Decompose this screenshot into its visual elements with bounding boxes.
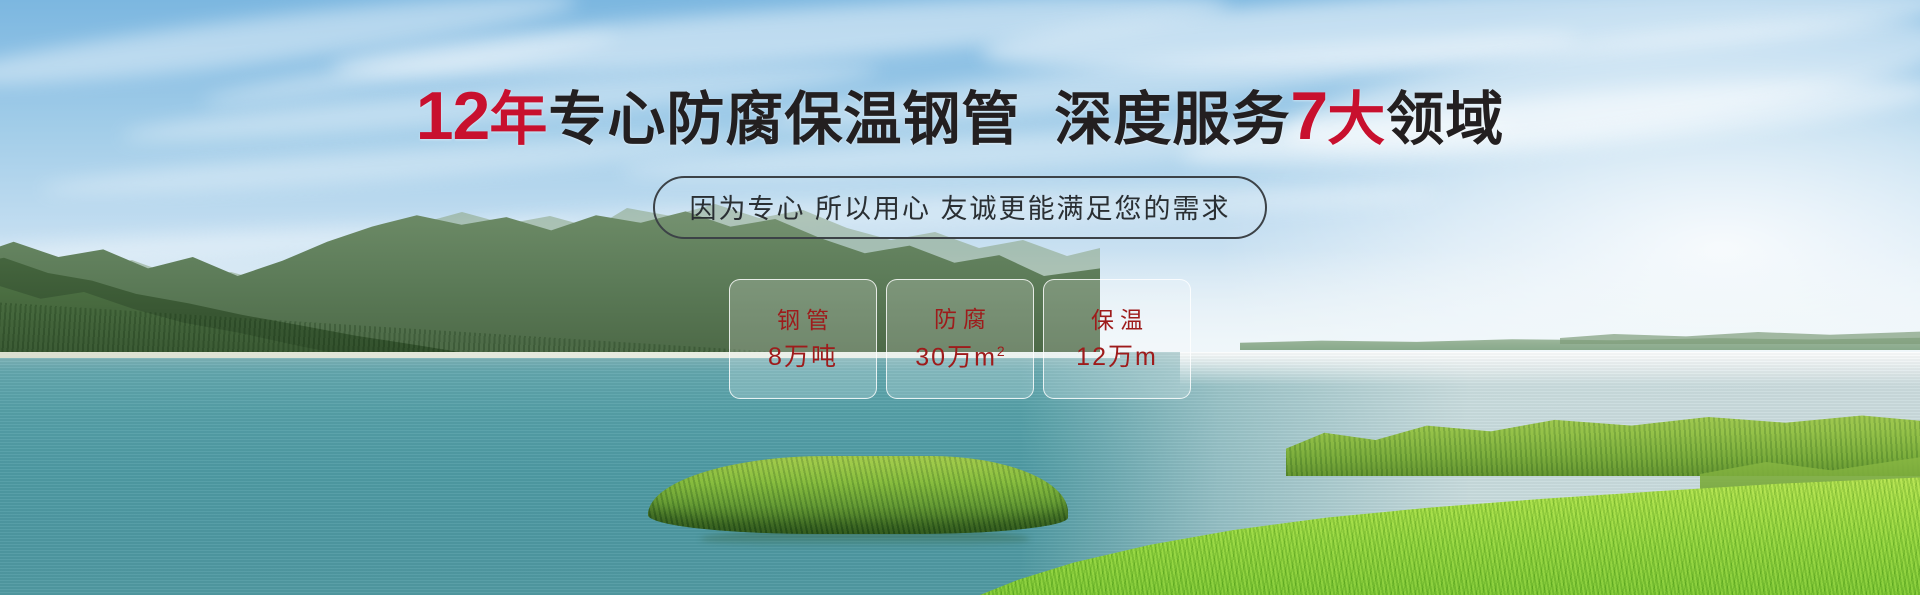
headline-second-text: 深度服务 xyxy=(1054,91,1290,149)
stat-card-value: 30万m2 xyxy=(915,344,1004,370)
headline-fields-suffix: 领域 xyxy=(1386,91,1504,149)
banner-content: 12 年 专心防腐保温钢管 深度服务 7 大 领域 因为专心 所以用心 友诚更能… xyxy=(0,0,1920,595)
stat-card-group: 钢管 8万吨 防腐 30万m2 保温 12万m xyxy=(729,279,1191,399)
stat-card-label: 保温 xyxy=(1085,309,1149,332)
stat-card-value: 12万m xyxy=(1076,345,1158,370)
headline-fields-unit-da: 大 xyxy=(1327,91,1386,149)
headline-fields-number: 7 xyxy=(1290,82,1327,150)
banner-headline: 12 年 专心防腐保温钢管 深度服务 7 大 领域 xyxy=(416,82,1505,150)
stat-card-value-text: 12万m xyxy=(1076,343,1158,371)
stat-card[interactable]: 防腐 30万m2 xyxy=(886,279,1034,399)
headline-years-number: 12 xyxy=(416,82,490,150)
stat-card[interactable]: 钢管 8万吨 xyxy=(729,279,877,399)
stat-card-value-text: 8万吨 xyxy=(768,343,838,371)
stat-card-value-superscript: 2 xyxy=(997,343,1005,359)
hero-banner: 12 年 专心防腐保温钢管 深度服务 7 大 领域 因为专心 所以用心 友诚更能… xyxy=(0,0,1920,595)
stat-card-label: 钢管 xyxy=(771,309,835,332)
stat-card[interactable]: 保温 12万m xyxy=(1043,279,1191,399)
stat-card-label: 防腐 xyxy=(928,308,992,331)
headline-main-text: 专心防腐保温钢管 xyxy=(548,91,1020,149)
banner-subtitle-pill: 因为专心 所以用心 友诚更能满足您的需求 xyxy=(653,176,1266,239)
headline-years-unit: 年 xyxy=(489,91,548,149)
stat-card-value: 8万吨 xyxy=(768,345,838,370)
stat-card-value-text: 30万m xyxy=(915,343,997,371)
